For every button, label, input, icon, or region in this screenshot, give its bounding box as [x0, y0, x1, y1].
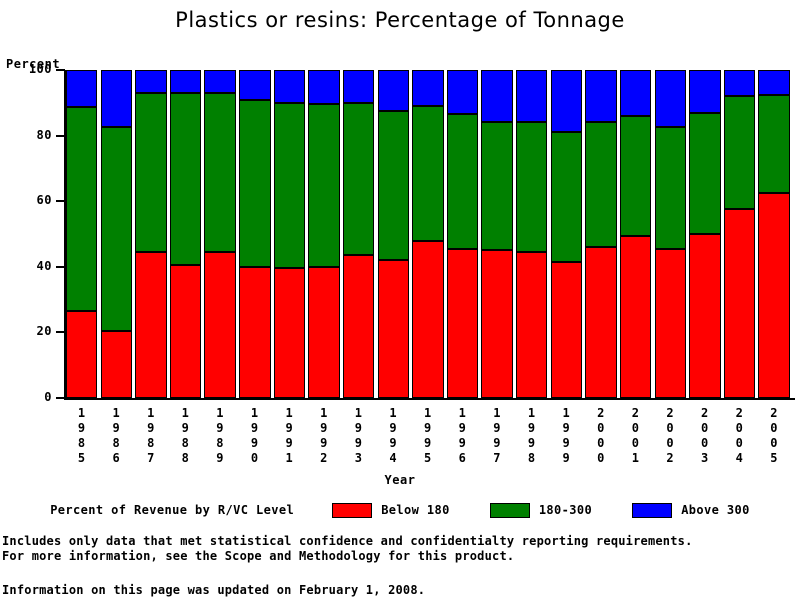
bar-stack[interactable]: [516, 70, 547, 398]
bar-segment[interactable]: [655, 249, 686, 398]
bar-segment[interactable]: [412, 106, 443, 240]
legend-swatch: [332, 503, 372, 518]
bar-segment[interactable]: [447, 114, 478, 248]
x-tick-label: 2005: [758, 406, 789, 466]
bar-segment[interactable]: [481, 250, 512, 398]
bar-segment[interactable]: [308, 267, 339, 398]
bar-segment[interactable]: [516, 252, 547, 398]
x-tick-label: 1989: [204, 406, 235, 466]
bar-stack[interactable]: [758, 70, 789, 398]
bar-stack[interactable]: [170, 70, 201, 398]
x-tick-label: 2001: [620, 406, 651, 466]
bar-segment[interactable]: [204, 93, 235, 252]
bar-stack[interactable]: [551, 70, 582, 398]
bar-segment[interactable]: [274, 268, 305, 398]
update-note: Information on this page was updated on …: [2, 583, 425, 597]
x-tick-label: 1986: [101, 406, 132, 466]
x-tick-label: 2000: [585, 406, 616, 466]
legend-label: Above 300: [681, 503, 750, 517]
x-tick-label: 2002: [655, 406, 686, 466]
bar-segment[interactable]: [101, 127, 132, 330]
bar-segment[interactable]: [101, 331, 132, 398]
x-tick-label: 1985: [66, 406, 97, 466]
bar-segment[interactable]: [343, 255, 374, 398]
bar-stack[interactable]: [204, 70, 235, 398]
bar-segment[interactable]: [689, 113, 720, 234]
legend-item[interactable]: Above 300: [632, 503, 750, 518]
bar-segment[interactable]: [724, 70, 755, 96]
bar-segment[interactable]: [516, 70, 547, 122]
bar-segment[interactable]: [378, 260, 409, 398]
bar-segment[interactable]: [585, 122, 616, 247]
bar-segment[interactable]: [170, 265, 201, 398]
x-axis-tick-labels: 1985198619871988198919901991199219931994…: [66, 406, 793, 468]
bar-segment[interactable]: [412, 70, 443, 106]
footnote-line-2: For more information, see the Scope and …: [2, 549, 693, 564]
bar-segment[interactable]: [620, 116, 651, 236]
bar-segment[interactable]: [447, 249, 478, 398]
bar-segment[interactable]: [758, 70, 789, 95]
bar-segment[interactable]: [274, 103, 305, 269]
x-tick-label: 1993: [343, 406, 374, 466]
bar-segment[interactable]: [135, 252, 166, 398]
bar-group: [66, 70, 793, 398]
x-tick-label: 1999: [551, 406, 582, 466]
bar-segment[interactable]: [724, 96, 755, 209]
y-tick-label: 60: [37, 193, 52, 207]
bar-segment[interactable]: [101, 70, 132, 127]
bar-stack[interactable]: [378, 70, 409, 398]
bar-segment[interactable]: [378, 111, 409, 260]
legend-label: 180-300: [539, 503, 592, 517]
bar-segment[interactable]: [689, 234, 720, 398]
bar-segment[interactable]: [66, 107, 97, 311]
bar-stack[interactable]: [689, 70, 720, 398]
bar-segment[interactable]: [274, 70, 305, 103]
legend-swatch: [632, 503, 672, 518]
x-axis-title: Year: [0, 473, 800, 487]
bar-segment[interactable]: [551, 262, 582, 398]
x-tick-label: 1990: [239, 406, 270, 466]
x-tick-label: 1991: [274, 406, 305, 466]
bar-segment[interactable]: [655, 70, 686, 127]
bar-stack[interactable]: [308, 70, 339, 398]
bar-segment[interactable]: [585, 70, 616, 122]
bar-segment[interactable]: [551, 132, 582, 262]
y-tick-mark: [56, 397, 65, 399]
footnote-line-1: Includes only data that met statistical …: [2, 534, 693, 549]
bar-segment[interactable]: [620, 236, 651, 398]
bar-segment[interactable]: [66, 70, 97, 107]
bar-stack[interactable]: [724, 70, 755, 398]
x-tick-label: 1998: [516, 406, 547, 466]
x-axis-line: [64, 398, 795, 400]
bar-stack[interactable]: [655, 70, 686, 398]
y-tick-label: 0: [44, 390, 52, 404]
y-tick-mark: [56, 135, 65, 137]
legend: Percent of Revenue by R/VC Level Below 1…: [0, 500, 800, 520]
bar-stack[interactable]: [447, 70, 478, 398]
bar-segment[interactable]: [585, 247, 616, 398]
bar-segment[interactable]: [689, 70, 720, 113]
y-tick-label: 80: [37, 128, 52, 142]
bar-segment[interactable]: [378, 70, 409, 111]
x-tick-label: 1995: [412, 406, 443, 466]
y-tick-label: 100: [29, 62, 52, 76]
legend-caption: Percent of Revenue by R/VC Level: [50, 503, 294, 517]
bar-segment[interactable]: [516, 122, 547, 252]
bar-stack[interactable]: [66, 70, 97, 398]
y-tick-mark: [56, 331, 65, 333]
bar-segment[interactable]: [308, 104, 339, 266]
x-tick-label: 1987: [135, 406, 166, 466]
bar-segment[interactable]: [204, 70, 235, 93]
bar-segment[interactable]: [135, 93, 166, 252]
legend-item[interactable]: Below 180: [332, 503, 450, 518]
legend-item[interactable]: 180-300: [490, 503, 592, 518]
bar-stack[interactable]: [239, 70, 270, 398]
bar-stack[interactable]: [101, 70, 132, 398]
bar-segment[interactable]: [239, 70, 270, 100]
y-tick-mark: [56, 200, 65, 202]
bar-segment[interactable]: [724, 209, 755, 398]
bar-segment[interactable]: [308, 70, 339, 104]
y-tick-label: 20: [37, 324, 52, 338]
bar-segment[interactable]: [481, 70, 512, 122]
bar-segment[interactable]: [239, 267, 270, 398]
bar-segment[interactable]: [170, 93, 201, 265]
bar-stack[interactable]: [412, 70, 443, 398]
bar-stack[interactable]: [135, 70, 166, 398]
page-title: Plastics or resins: Percentage of Tonnag…: [0, 8, 800, 32]
x-tick-label: 1992: [308, 406, 339, 466]
y-tick-label: 40: [37, 259, 52, 273]
bar-segment[interactable]: [412, 241, 443, 398]
bar-stack[interactable]: [481, 70, 512, 398]
bar-segment[interactable]: [170, 70, 201, 93]
bar-segment[interactable]: [135, 70, 166, 93]
bar-segment[interactable]: [620, 70, 651, 116]
bar-segment[interactable]: [239, 100, 270, 267]
bar-segment[interactable]: [758, 95, 789, 193]
bar-segment[interactable]: [758, 193, 789, 398]
bar-segment[interactable]: [204, 252, 235, 398]
footnotes: Includes only data that met statistical …: [2, 534, 693, 564]
bar-stack[interactable]: [620, 70, 651, 398]
x-tick-label: 2004: [724, 406, 755, 466]
bar-stack[interactable]: [274, 70, 305, 398]
y-tick-mark: [56, 69, 65, 71]
legend-swatch: [490, 503, 530, 518]
x-tick-label: 1996: [447, 406, 478, 466]
bar-stack[interactable]: [585, 70, 616, 398]
x-tick-label: 1988: [170, 406, 201, 466]
legend-label: Below 180: [381, 503, 450, 517]
bar-segment[interactable]: [343, 103, 374, 256]
bar-segment[interactable]: [66, 311, 97, 398]
bar-stack[interactable]: [343, 70, 374, 398]
x-tick-label: 1997: [481, 406, 512, 466]
bar-segment[interactable]: [551, 70, 582, 132]
bar-segment[interactable]: [447, 70, 478, 114]
bar-segment[interactable]: [655, 127, 686, 248]
bar-segment[interactable]: [481, 122, 512, 250]
bar-segment[interactable]: [343, 70, 374, 103]
y-tick-mark: [56, 266, 65, 268]
x-tick-label: 2003: [689, 406, 720, 466]
x-tick-label: 1994: [378, 406, 409, 466]
